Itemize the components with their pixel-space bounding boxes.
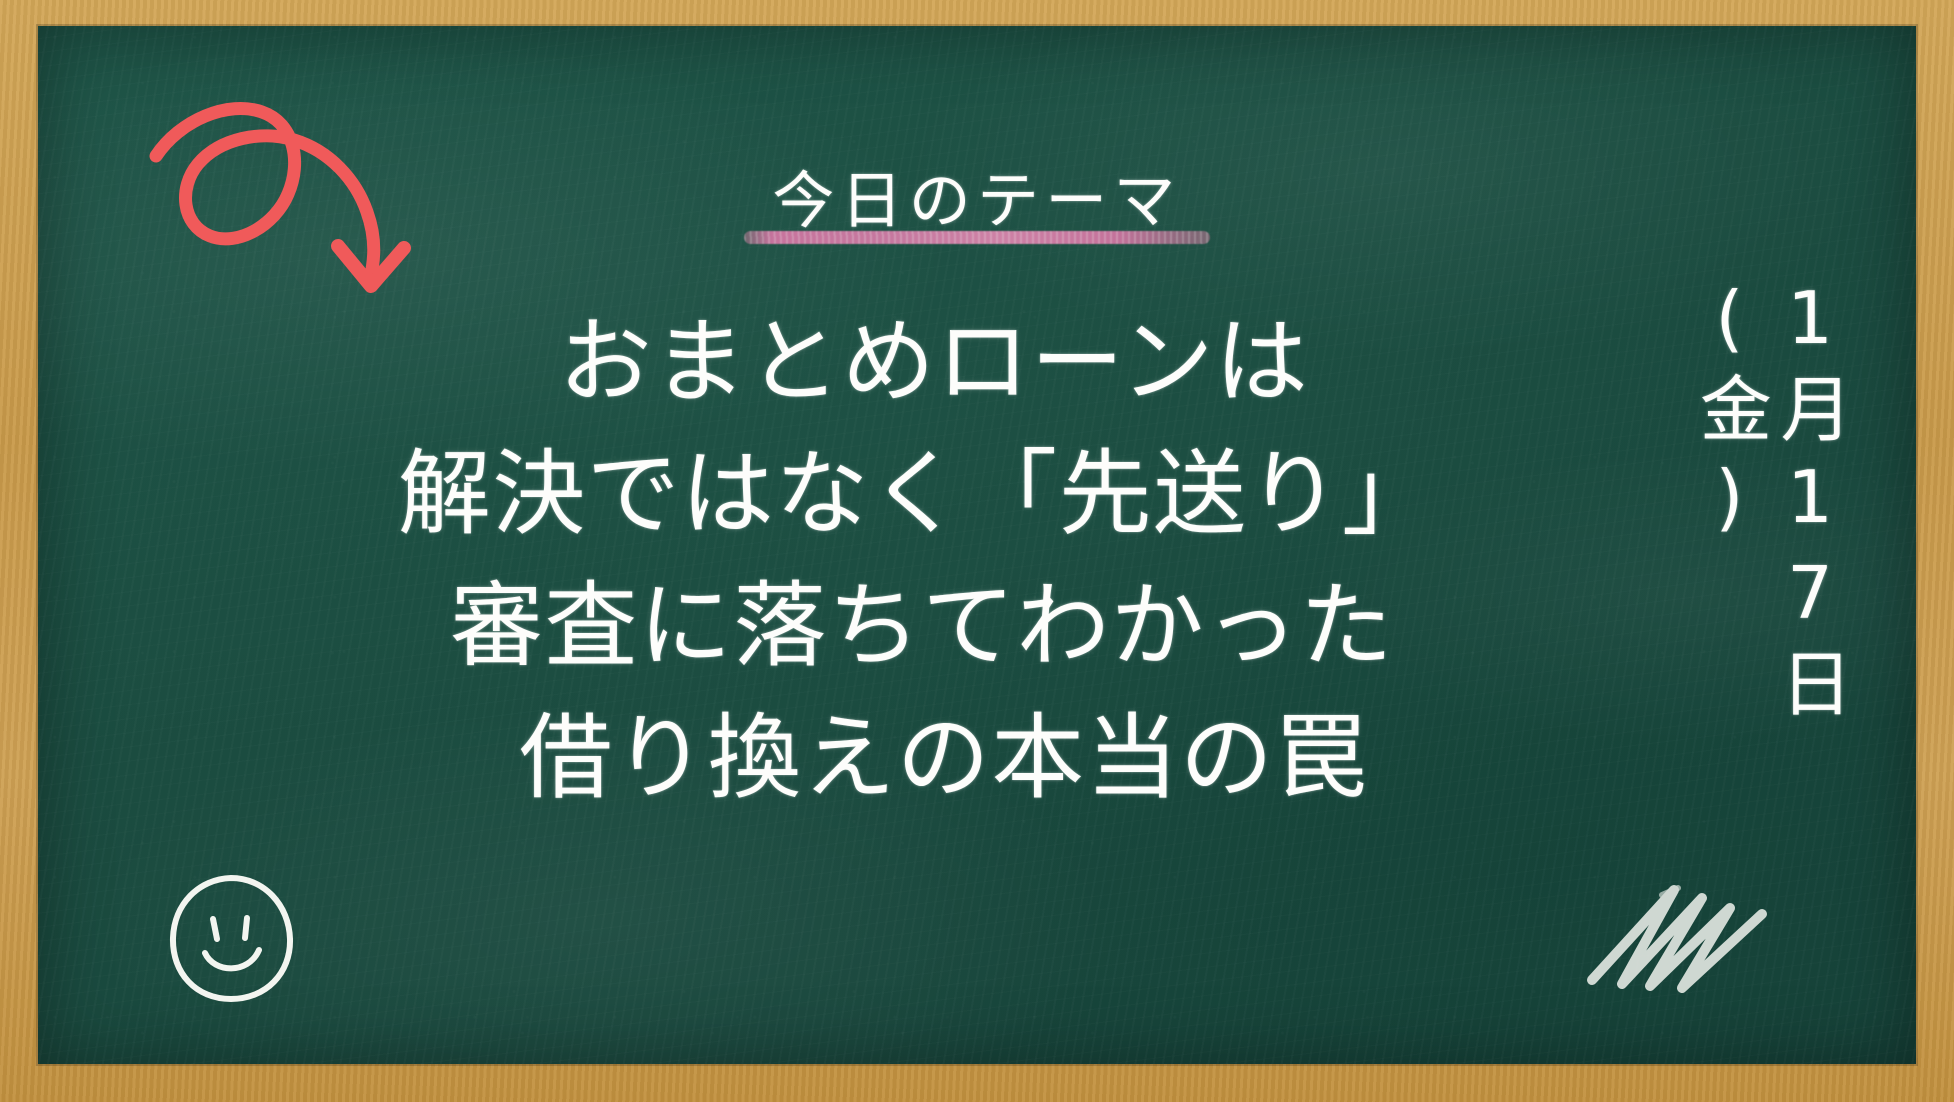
title-inline-wrap: 今日のテーマ (750, 170, 1203, 244)
red-curly-arrow-icon (142, 84, 472, 314)
date-label: 1月17日(金) (1689, 276, 1850, 896)
body-line-3: 審査に落ちてわかった (248, 560, 1586, 692)
chalkboard-surface: 今日のテーマ おまとめローンは 解決ではなく「先送り」 審査に落ちてわかった 借… (38, 26, 1916, 1064)
body-line-2: 解決ではなく「先送り」 (248, 428, 1586, 560)
title-underline (744, 231, 1209, 244)
chalkboard-poster: 今日のテーマ おまとめローンは 解決ではなく「先送り」 審査に落ちてわかった 借… (0, 0, 1954, 1102)
title-block: 今日のテーマ (38, 170, 1916, 244)
body-line-4: 借り換えの本当の罠 (248, 692, 1586, 824)
smiley-face-icon (166, 871, 296, 1006)
body-line-1: おまとめローンは (248, 296, 1586, 428)
page-title: 今日のテーマ (772, 164, 1181, 237)
body-text-block: おまとめローンは 解決ではなく「先送り」 審査に落ちてわかった 借り換えの本当の… (248, 296, 1586, 824)
